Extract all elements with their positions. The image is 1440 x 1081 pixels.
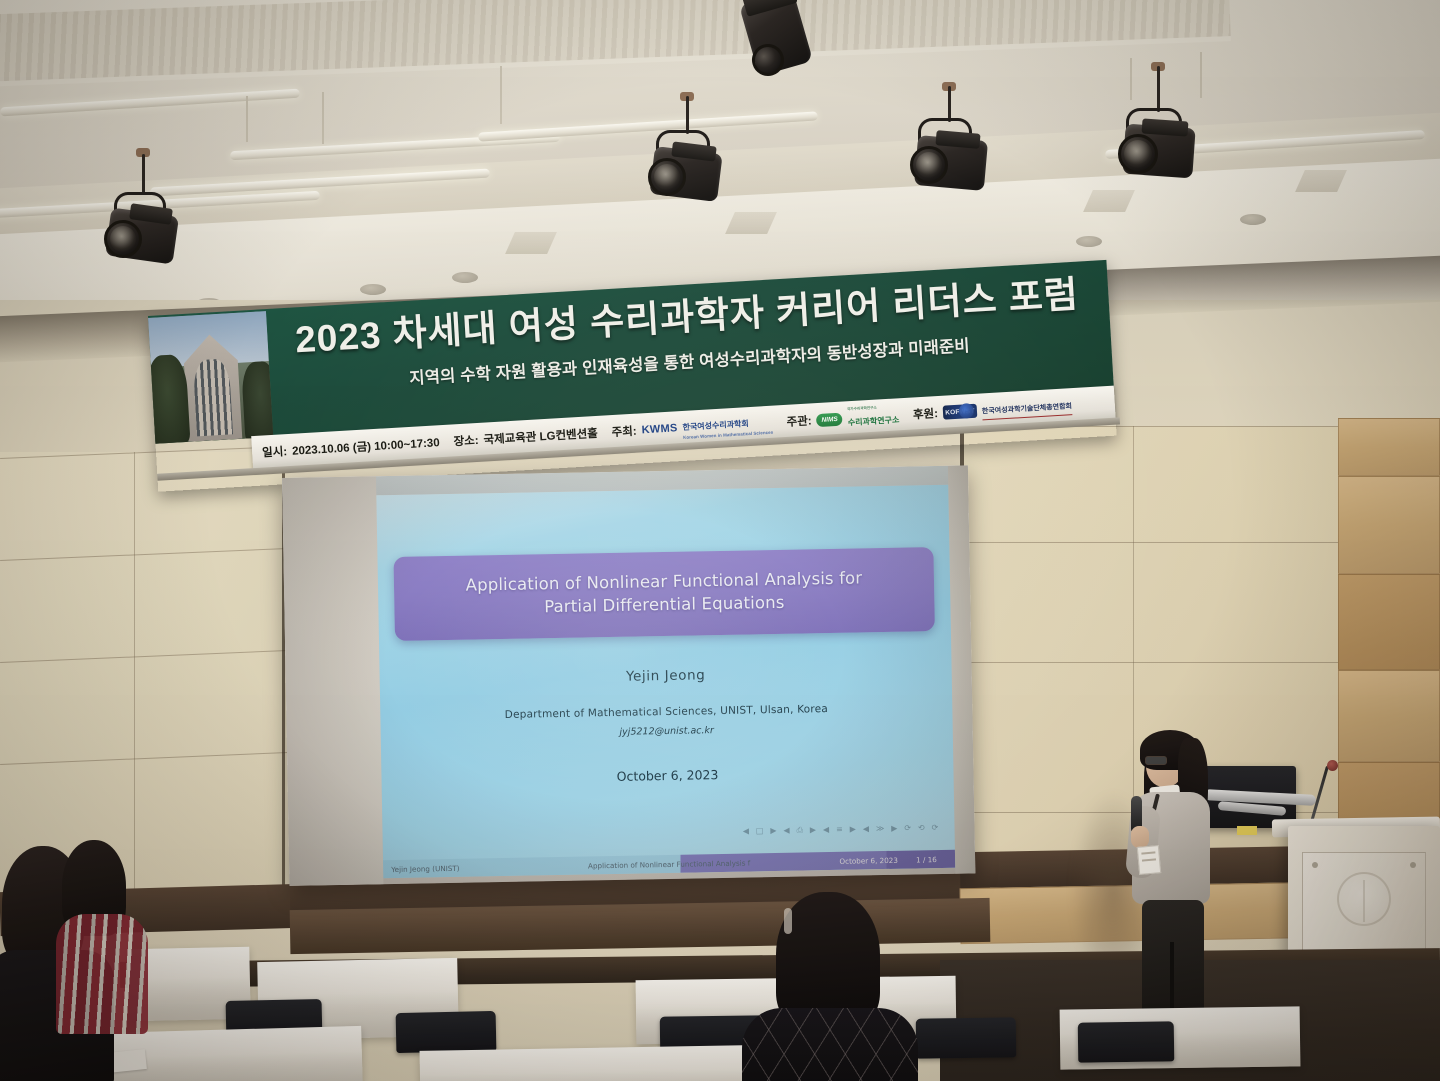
audience-torso	[742, 1008, 918, 1081]
slide-date: October 6, 2023	[381, 763, 953, 788]
table-row	[420, 1045, 751, 1081]
ceiling-coffer-panel	[0, 0, 1231, 87]
spotlight-lens-glass	[1124, 140, 1152, 168]
banner-organizer-label: 주관:	[786, 412, 812, 429]
kofwst-underline	[982, 414, 1072, 420]
lectern-fastener	[1312, 862, 1318, 868]
presenter-hand	[1131, 826, 1149, 848]
banner-date-label: 일시:	[262, 443, 288, 460]
tube-hanger	[500, 66, 502, 124]
slide-footer: Yejin Jeong (UNIST) Application of Nonli…	[383, 850, 955, 878]
spotlight-cable	[1157, 66, 1160, 112]
nims-name-ko: 수리과학연구소	[848, 415, 900, 427]
microphone-head	[1327, 760, 1338, 771]
wood-wall-panel	[1338, 418, 1440, 476]
slide-email: jyj5212@unist.ac.kr	[381, 721, 953, 742]
projected-slide: Application of Nonlinear Functional Anal…	[376, 485, 955, 878]
banner-host-label: 주최:	[611, 423, 637, 440]
banner-date-value: 2023.10.06 (금) 10:00~17:30	[292, 434, 440, 459]
panel-seam	[134, 452, 135, 892]
recessed-downlight	[452, 272, 478, 283]
wood-wall-panel	[1338, 476, 1440, 574]
slide-footer-title: Application of Nonlinear Functional Anal…	[555, 857, 784, 870]
presenter-name-badge	[1137, 845, 1161, 875]
lectern-emblem	[1337, 872, 1391, 926]
recessed-downlight	[1076, 236, 1102, 247]
banner-date-segment: 일시: 2023.10.06 (금) 10:00~17:30	[262, 434, 440, 460]
beamer-navigation-icons[interactable]: ◀ □ ▶ ◀ ⎙ ▶ ◀ ≡ ▶ ◀ ≫ ▶ ⟳ ⟲ ⟳	[743, 823, 941, 837]
slide-footer-date: October 6, 2023	[783, 855, 898, 866]
banner-sponsor-segment: 후원: KOFWST 한국여성과학기술단체총연합회	[912, 395, 1072, 424]
banner-sponsor-label: 후원:	[913, 405, 939, 422]
spotlight-cable	[142, 154, 145, 194]
presenter	[1120, 728, 1230, 1018]
wood-wall-panel	[1338, 670, 1440, 762]
recessed-downlight	[360, 284, 386, 295]
stage-spotlight	[1112, 62, 1204, 198]
audience-member	[54, 840, 164, 1040]
slide-title-line-1: Application of Nonlinear Functional Anal…	[465, 569, 862, 595]
conference-chair	[396, 1011, 497, 1053]
panel-seam	[962, 662, 1342, 663]
audience-member	[736, 892, 926, 1081]
audience-hair-clip	[784, 908, 792, 934]
spotlight-lens-glass	[110, 226, 136, 252]
kwms-name-ko: 한국여성수리과학회	[682, 419, 749, 432]
spotlight-cable	[686, 96, 689, 134]
glasses-icon	[1145, 756, 1167, 765]
presenter-leg-gap	[1170, 942, 1174, 1012]
slide-footer-page-number: 1 / 16	[898, 854, 955, 864]
slide-author: Yejin Jeong	[380, 663, 952, 689]
banner-venue-value: 국제교육관 LG컨벤션홀	[483, 425, 598, 448]
spotlight-cable	[948, 86, 951, 122]
spotlight-lens-glass	[916, 152, 942, 178]
banner-photo-tree-right	[241, 361, 274, 441]
projection-screen: Application of Nonlinear Functional Anal…	[282, 465, 975, 886]
stage-spotlight	[100, 148, 186, 280]
stage-spotlight	[906, 82, 992, 212]
tube-hanger	[246, 96, 248, 142]
slide-title-line-2: Partial Differential Equations	[544, 593, 785, 616]
banner-organizer-segment: 주관: NIMS 국가수리과학연구소 수리과학연구소	[786, 404, 900, 434]
slide-title-text: Application of Nonlinear Functional Anal…	[465, 568, 862, 621]
stage-spotlight	[644, 92, 730, 222]
nims-logo-mark: NIMS	[816, 412, 843, 426]
spotlight-barn-door	[1142, 118, 1189, 136]
banner-venue-segment: 장소: 국제교육관 LG컨벤션홀	[453, 425, 598, 449]
slide-affiliation: Department of Mathematical Sciences, UNI…	[380, 701, 952, 723]
kofwst-name-ko: 한국여성과학기술단체총연합회	[982, 403, 1072, 415]
conference-hall-photo: 2023 차세대 여성 수리과학자 커리어 리더스 포럼 지역의 수학 자원 활…	[0, 0, 1440, 1081]
spotlight-lens-glass	[654, 164, 680, 190]
table-drape	[420, 1069, 751, 1081]
stage-spotlight	[742, 0, 820, 96]
conference-chair	[1078, 1021, 1175, 1062]
banner-building-photo	[148, 311, 273, 444]
lectern-fastener	[1410, 862, 1416, 868]
nims-name-sup: 국가수리과학연구소	[847, 404, 899, 412]
slide-footer-author: Yejin Jeong (UNIST)	[383, 862, 555, 874]
audience-torso	[56, 914, 148, 1034]
nims-name-block: 국가수리과학연구소 수리과학연구소	[847, 404, 900, 430]
recessed-downlight	[1240, 214, 1266, 225]
panel-seam	[962, 542, 1342, 543]
screen-left-strip	[282, 476, 383, 886]
kofwst-logo-mark: KOFWST	[943, 404, 978, 420]
banner-venue-label: 장소:	[453, 432, 479, 449]
wood-wall-panel	[1338, 574, 1440, 670]
kofwst-name-block: 한국여성과학기술단체총연합회	[981, 395, 1072, 420]
fluorescent-tube	[0, 89, 300, 117]
tube-hanger	[322, 92, 324, 144]
slide-title-block: Application of Nonlinear Functional Anal…	[393, 547, 934, 641]
kwms-name-block: 한국여성수리과학회 Korean Women in Mathematical S…	[682, 411, 773, 439]
conference-chair	[916, 1017, 1017, 1058]
yellow-sticky-note	[1237, 826, 1257, 835]
kwms-logo-mark: KWMS	[641, 422, 678, 436]
wall-panel-left	[0, 452, 286, 902]
